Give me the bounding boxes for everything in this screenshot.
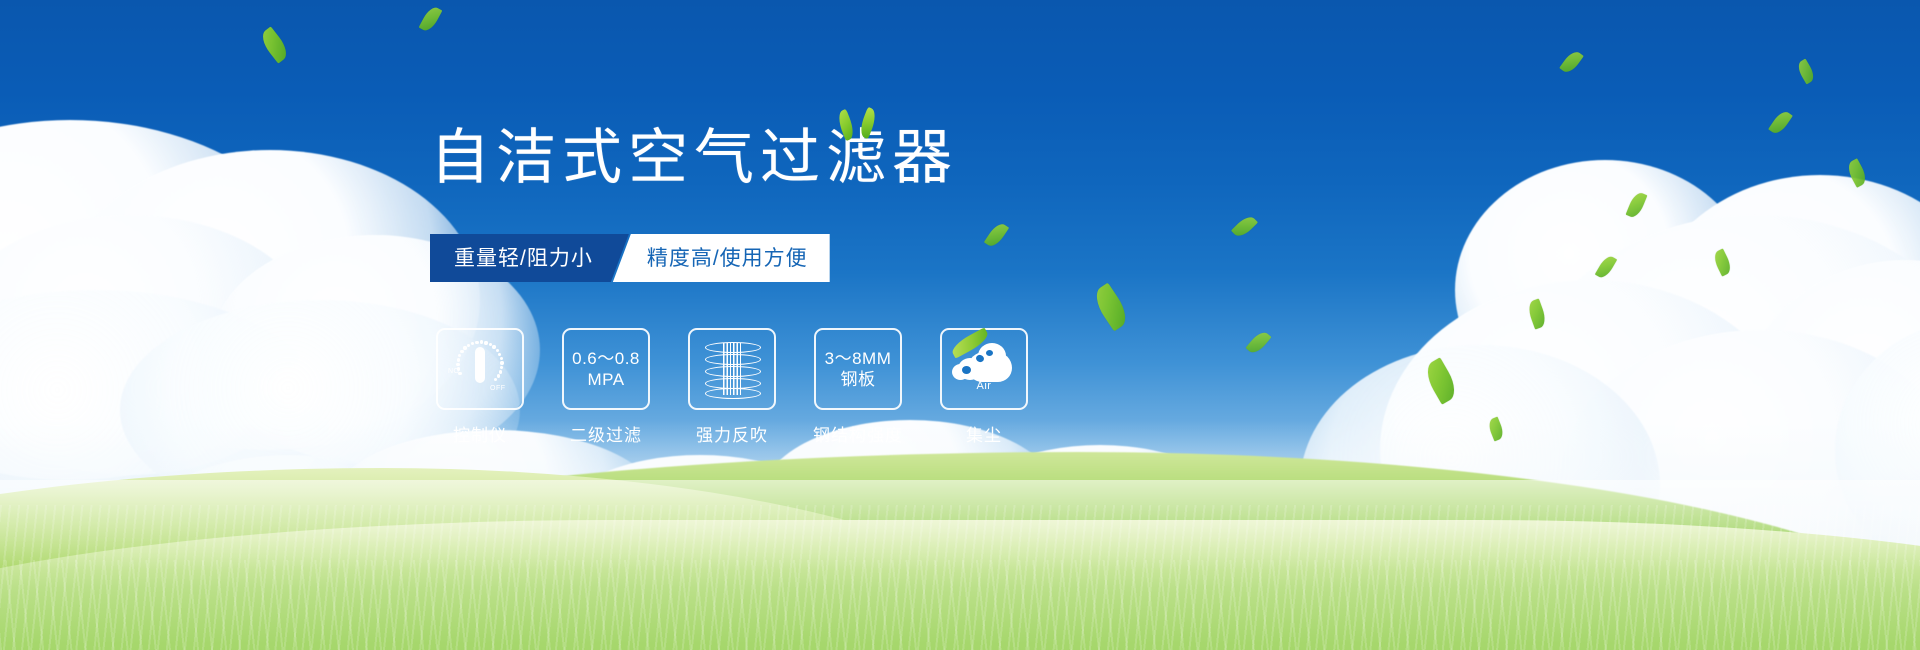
feature-icon-box: Air: [940, 328, 1028, 410]
filter-stack-icon: [705, 340, 759, 398]
leaf-shape: [857, 107, 879, 139]
feature-icon-box: [688, 328, 776, 410]
feature-item-control: NO OFF 控制仪: [438, 328, 522, 446]
dial-tick: [484, 341, 487, 344]
dial-tick: [467, 344, 470, 347]
pressure-value: 0.6〜0.8: [572, 348, 640, 369]
steel-material: 钢板: [825, 369, 892, 390]
dial-tick: [457, 358, 460, 361]
dial-tick: [500, 366, 503, 369]
dial-tick: [460, 350, 463, 353]
air-cloud-icon: Air: [952, 342, 1016, 396]
steel-plate-text-icon: 3〜8MM 钢板: [825, 348, 892, 390]
stack-disc: [705, 366, 761, 377]
dial-off-label: OFF: [490, 385, 506, 392]
pressure-text-icon: 0.6〜0.8 MPA: [572, 348, 640, 390]
feature-item-pressure: 0.6〜0.8 MPA 二级过滤: [564, 328, 648, 446]
sprout-leaf-icon: [838, 104, 882, 144]
leaf-shape: [835, 109, 857, 141]
feature-label: 控制仪: [453, 421, 507, 446]
steel-thickness: 3〜8MM: [825, 348, 892, 369]
dial-tick: [494, 378, 497, 381]
feature-icon-box: 0.6〜0.8 MPA: [562, 328, 650, 410]
dial-knob: [475, 347, 485, 383]
cloud-hole: [962, 366, 971, 374]
cloud-hole: [986, 350, 993, 356]
tagline-group: 重量轻/阻力小 精度高/使用方便: [430, 234, 830, 282]
dial-tick: [499, 370, 502, 373]
feature-item-steel: 3〜8MM 钢板 钢结构强度: [816, 328, 900, 446]
feature-item-dust: Air 集尘: [942, 328, 1026, 446]
dial-tick: [456, 363, 459, 366]
stack-disc: [705, 388, 761, 399]
feature-item-backwash: 强力反吹: [690, 328, 774, 446]
control-dial-icon: NO OFF: [449, 340, 511, 398]
dial-tick: [500, 361, 503, 364]
stack-disc: [705, 354, 761, 365]
air-label: Air: [952, 380, 1016, 392]
feature-label: 二级过滤: [570, 421, 642, 446]
banner-content: 自洁式空气过滤器 重量轻/阻力小 精度高/使用方便 NO OFF 控: [0, 0, 1920, 650]
dial-on-label: NO: [448, 368, 460, 375]
feature-label: 钢结构强度: [813, 421, 903, 446]
feature-icon-box: NO OFF: [436, 328, 524, 410]
dial-tick: [480, 340, 483, 343]
dial-tick: [471, 342, 474, 345]
stack-disc: [705, 342, 761, 353]
pressure-unit: MPA: [572, 369, 640, 390]
feature-label: 强力反吹: [696, 421, 768, 446]
feature-list: NO OFF 控制仪 0.6〜0.8 MPA 二级过滤: [438, 328, 1026, 446]
hero-banner: 自洁式空气过滤器 重量轻/阻力小 精度高/使用方便 NO OFF 控: [0, 0, 1920, 650]
feature-label: 集尘: [966, 421, 1002, 446]
dial-tick: [475, 341, 478, 344]
dial-tick: [496, 349, 499, 352]
tagline-secondary: 精度高/使用方便: [613, 234, 830, 282]
dial-tick: [463, 346, 466, 349]
dial-tick: [500, 357, 503, 360]
dial-tick: [458, 354, 461, 357]
tagline-primary: 重量轻/阻力小: [430, 234, 629, 282]
dial-tick: [497, 374, 500, 377]
dial-tick: [492, 345, 495, 348]
feature-icon-box: 3〜8MM 钢板: [814, 328, 902, 410]
dial-tick: [498, 353, 501, 356]
